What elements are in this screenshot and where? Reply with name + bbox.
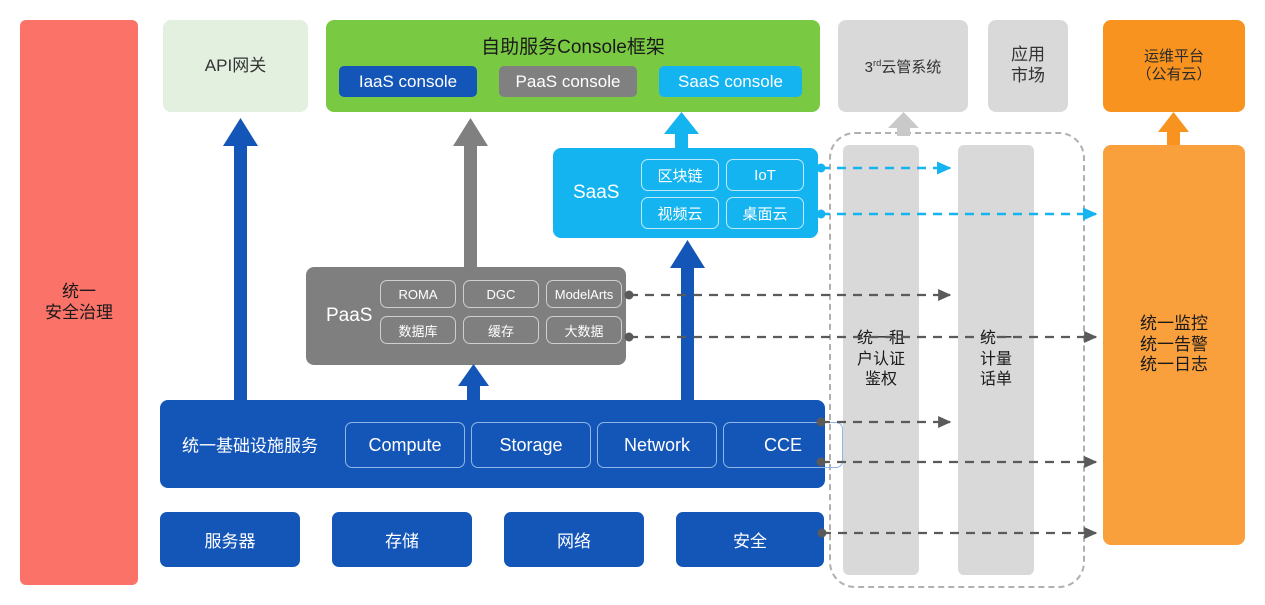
infra-item-cce[interactable]: CCE [723,422,843,468]
unified-metering-billing-label: 统一 计量 话单 [980,329,1012,391]
paas-item-modelarts[interactable]: ModelArts [546,280,622,308]
third-party-cloud-mgmt-label: 3rd云管系统 [865,56,942,77]
paas-item-bigdata[interactable]: 大数据 [546,316,622,344]
arrow-paas-to-console [453,118,488,267]
app-market-box: 应用 市场 [988,20,1068,112]
paas-item-dgc[interactable]: DGC [463,280,539,308]
infra-item-network[interactable]: Network [597,422,717,468]
infra-item-compute[interactable]: Compute [345,422,465,468]
saas-item-iot[interactable]: IoT [726,159,804,191]
hardware-item-storage[interactable]: 存储 [332,512,472,567]
ops-platform-label: 运维平台 （公有云） [1136,48,1211,85]
saas-layer-label: SaaS [573,182,619,204]
arrow-infra-to-api-gateway [223,118,258,400]
unified-infrastructure-label: 统一基础设施服务 [182,432,318,457]
ops-monitoring-panel: 统一监控 统一告警 统一日志 [1103,145,1245,545]
saas-item-blockchain[interactable]: 区块链 [641,159,719,191]
paas-layer: PaaS ROMA DGC ModelArts 数据库 缓存 大数据 [306,267,626,365]
hardware-item-security[interactable]: 安全 [676,512,824,567]
iaas-console-pill[interactable]: IaaS console [339,66,477,97]
arrow-infra-to-saas [670,240,705,400]
hardware-item-network[interactable]: 网络 [504,512,644,567]
paas-item-database[interactable]: 数据库 [380,316,456,344]
saas-layer: SaaS 区块链 IoT 视频云 桌面云 [553,148,818,238]
ops-monitoring-label: 统一监控 统一告警 统一日志 [1140,314,1208,376]
arrow-ops-panel-to-ops-top [1158,112,1189,145]
self-service-console-frame: 自助服务Console框架 IaaS console PaaS console … [326,20,820,112]
architecture-diagram: 统一 安全治理 API网关 自助服务Console框架 IaaS console… [0,0,1265,605]
unified-tenant-auth-label: 统一租 户认证 鉴权 [857,329,905,391]
unified-tenant-auth-column: 统一租 户认证 鉴权 [843,145,919,575]
third-party-cloud-mgmt-box: 3rd云管系统 [838,20,968,112]
paas-console-pill[interactable]: PaaS console [499,66,637,97]
hardware-item-server[interactable]: 服务器 [160,512,300,567]
paas-item-roma[interactable]: ROMA [380,280,456,308]
arrow-infra-to-paas [458,364,489,400]
saas-item-desktop-cloud[interactable]: 桌面云 [726,197,804,229]
unified-infrastructure-layer: 统一基础设施服务 Compute Storage Network CCE [160,400,825,488]
app-market-label: 应用 市场 [1011,45,1045,86]
unified-security-governance-panel: 统一 安全治理 [20,20,138,585]
saas-item-video-cloud[interactable]: 视频云 [641,197,719,229]
arrow-saas-to-console [664,112,699,150]
unified-security-governance-label: 统一 安全治理 [45,282,113,323]
unified-metering-billing-column: 统一 计量 话单 [958,145,1034,575]
api-gateway-label: API网关 [205,56,266,77]
ops-platform-public-cloud-box: 运维平台 （公有云） [1103,20,1245,112]
console-frame-title: 自助服务Console框架 [326,32,820,59]
infra-item-storage[interactable]: Storage [471,422,591,468]
paas-item-cache[interactable]: 缓存 [463,316,539,344]
saas-console-pill[interactable]: SaaS console [659,66,802,97]
api-gateway-box: API网关 [163,20,308,112]
paas-layer-label: PaaS [326,305,372,327]
